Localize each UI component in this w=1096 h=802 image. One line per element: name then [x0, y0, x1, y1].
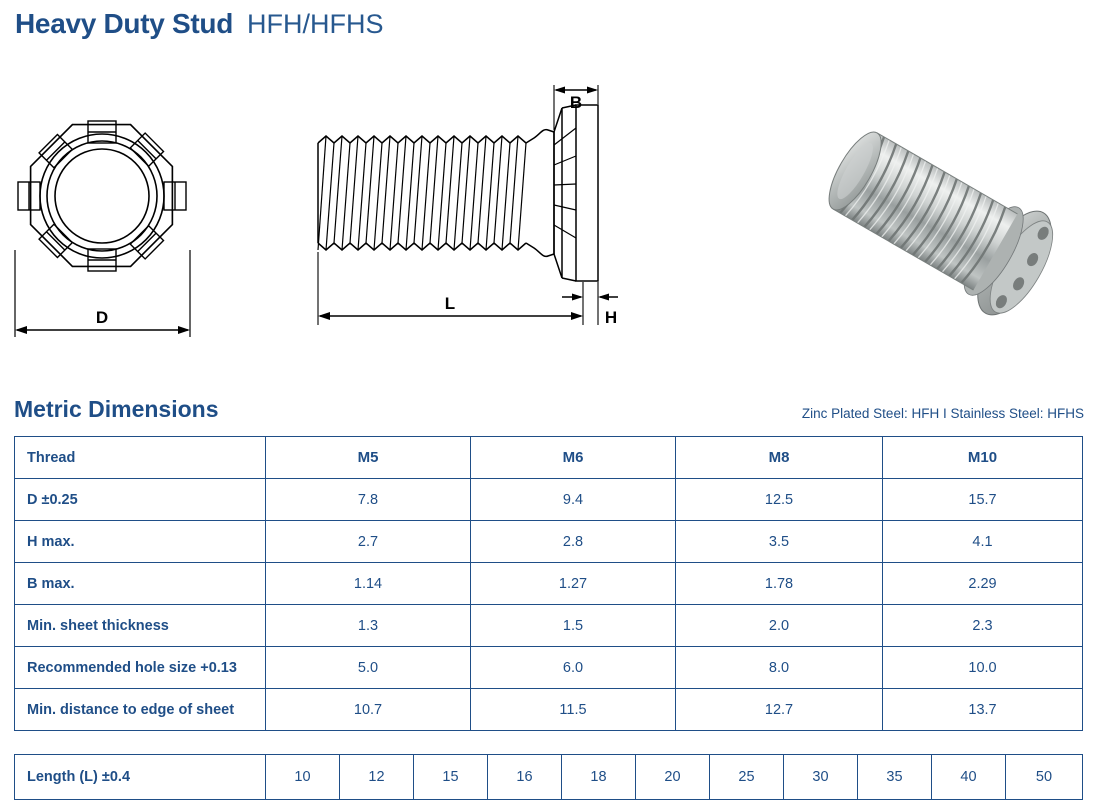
length-table: Length (L) ±0.4 10 12 15 16 18 20 25 30 …	[14, 754, 1083, 800]
row-label-min-sheet-thickness: Min. sheet thickness	[15, 605, 266, 647]
technical-drawings-area: D	[0, 60, 1096, 380]
length-cell-12: 12	[340, 755, 414, 800]
length-cell-10: 10	[266, 755, 340, 800]
cell-hole-m10: 10.0	[883, 647, 1083, 689]
cell-h-m6: 2.8	[471, 521, 676, 563]
cell-hole-m8: 8.0	[676, 647, 883, 689]
dimension-label-l: L	[445, 294, 455, 313]
metric-dimensions-heading: Metric Dimensions	[14, 396, 219, 423]
cell-b-m5: 1.14	[266, 563, 471, 605]
cell-sheet-m10: 2.3	[883, 605, 1083, 647]
table-row: Min. distance to edge of sheet 10.7 11.5…	[15, 689, 1083, 731]
cell-d-m10: 15.7	[883, 479, 1083, 521]
cell-d-m5: 7.8	[266, 479, 471, 521]
length-cell-40: 40	[932, 755, 1006, 800]
table-header-row: Thread M5 M6 M8 M10	[15, 437, 1083, 479]
table-row: D ±0.25 7.8 9.4 12.5 15.7	[15, 479, 1083, 521]
row-label-recommended-hole-size: Recommended hole size +0.13	[15, 647, 266, 689]
flange-top-view-drawing: D	[0, 85, 230, 375]
row-label-h: H max.	[15, 521, 266, 563]
cell-b-m6: 1.27	[471, 563, 676, 605]
row-label-b: B max.	[15, 563, 266, 605]
title-product-name: Heavy Duty Stud	[15, 8, 233, 39]
header-col-m10: M10	[883, 437, 1083, 479]
table-row: Recommended hole size +0.13 5.0 6.0 8.0 …	[15, 647, 1083, 689]
cell-edge-m6: 11.5	[471, 689, 676, 731]
table-row: B max. 1.14 1.27 1.78 2.29	[15, 563, 1083, 605]
cell-sheet-m6: 1.5	[471, 605, 676, 647]
table-row: Min. sheet thickness 1.3 1.5 2.0 2.3	[15, 605, 1083, 647]
cell-d-m8: 12.5	[676, 479, 883, 521]
cell-sheet-m5: 1.3	[266, 605, 471, 647]
dimension-label-d: D	[96, 308, 108, 327]
length-table-body: Length (L) ±0.4 10 12 15 16 18 20 25 30 …	[15, 755, 1083, 800]
metric-dimensions-table-body: Thread M5 M6 M8 M10 D ±0.25 7.8 9.4 12.5…	[15, 437, 1083, 731]
length-row: Length (L) ±0.4 10 12 15 16 18 20 25 30 …	[15, 755, 1083, 800]
cell-hole-m5: 5.0	[266, 647, 471, 689]
header-col-m5: M5	[266, 437, 471, 479]
cell-h-m10: 4.1	[883, 521, 1083, 563]
header-thread-label: Thread	[15, 437, 266, 479]
length-cell-18: 18	[562, 755, 636, 800]
length-cell-25: 25	[710, 755, 784, 800]
title-part-codes: HFH/HFHS	[247, 9, 384, 39]
header-col-m8: M8	[676, 437, 883, 479]
stud-product-photo	[790, 80, 1090, 370]
cell-d-m6: 9.4	[471, 479, 676, 521]
length-row-label: Length (L) ±0.4	[15, 755, 266, 800]
cell-h-m5: 2.7	[266, 521, 471, 563]
length-cell-16: 16	[488, 755, 562, 800]
cell-sheet-m8: 2.0	[676, 605, 883, 647]
length-cell-20: 20	[636, 755, 710, 800]
cell-h-m8: 3.5	[676, 521, 883, 563]
row-label-min-edge-distance: Min. distance to edge of sheet	[15, 689, 266, 731]
cell-edge-m8: 12.7	[676, 689, 883, 731]
row-label-d: D ±0.25	[15, 479, 266, 521]
cell-b-m10: 2.29	[883, 563, 1083, 605]
metric-dimensions-table: Thread M5 M6 M8 M10 D ±0.25 7.8 9.4 12.5…	[14, 436, 1083, 731]
length-cell-15: 15	[414, 755, 488, 800]
stud-side-view-drawing: B L H	[300, 60, 640, 350]
material-note: Zinc Plated Steel: HFH I Stainless Steel…	[802, 406, 1084, 421]
length-cell-35: 35	[858, 755, 932, 800]
cell-edge-m10: 13.7	[883, 689, 1083, 731]
header-col-m6: M6	[471, 437, 676, 479]
page-title: Heavy Duty StudHFH/HFHS	[15, 8, 384, 40]
table-row: H max. 2.7 2.8 3.5 4.1	[15, 521, 1083, 563]
dimension-label-h: H	[605, 308, 617, 327]
length-cell-30: 30	[784, 755, 858, 800]
dimension-label-b: B	[570, 93, 582, 112]
cell-hole-m6: 6.0	[471, 647, 676, 689]
cell-b-m8: 1.78	[676, 563, 883, 605]
cell-edge-m5: 10.7	[266, 689, 471, 731]
length-cell-50: 50	[1006, 755, 1083, 800]
